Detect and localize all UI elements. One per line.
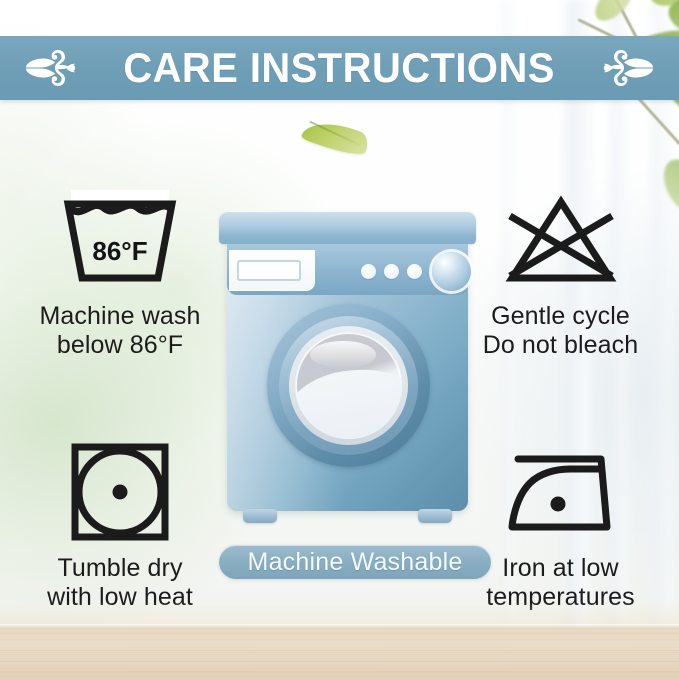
- care-symbol-machine-wash: 86°F Machine wash below 86°F: [10, 186, 230, 359]
- tumble-dry-square-circle-icon: [10, 438, 230, 546]
- machine-display-panel: [229, 250, 315, 291]
- page-title: CARE INSTRUCTIONS: [124, 47, 555, 89]
- fleur-de-lis-icon: [22, 45, 84, 91]
- machine-door[interactable]: [267, 304, 430, 467]
- wash-temperature-value: 86°F: [62, 236, 178, 267]
- care-symbol-iron-low: Iron at low temperatures: [448, 438, 673, 611]
- machine-door-inner-ring: [289, 326, 408, 445]
- machine-top-lid: [219, 211, 476, 244]
- machine-button[interactable]: [384, 264, 399, 279]
- care-symbol-tumble-dry-low: Tumble dry with low heat: [10, 438, 230, 611]
- machine-foot: [243, 509, 277, 523]
- wooden-table-surface: [0, 624, 679, 679]
- care-symbol-caption: Machine wash below 86°F: [10, 302, 230, 359]
- machine-foot: [418, 509, 452, 523]
- fleur-de-lis-icon: [595, 45, 657, 91]
- care-instructions-card: CARE INSTRUCTIONS: [0, 0, 679, 679]
- table-shadow-fade: [0, 602, 679, 624]
- header-banner: CARE INSTRUCTIONS: [0, 36, 679, 100]
- machine-door-ring: [279, 316, 418, 455]
- badge-label: Machine Washable: [248, 550, 463, 575]
- triangle-crossed-out-icon: [448, 186, 673, 294]
- washing-machine-illustration: [219, 211, 476, 525]
- wash-tub-icon: 86°F: [10, 186, 230, 294]
- machine-button[interactable]: [407, 264, 422, 279]
- care-symbol-gentle-cycle-no-bleach: Gentle cycle Do not bleach: [448, 186, 673, 359]
- machine-door-glass: [295, 332, 402, 439]
- wood-grain-texture: [0, 624, 679, 679]
- machine-button[interactable]: [361, 264, 376, 279]
- iron-icon: [448, 438, 673, 546]
- machine-dial-knob[interactable]: [432, 252, 471, 291]
- care-symbol-caption: Gentle cycle Do not bleach: [448, 302, 673, 359]
- machine-washable-badge: Machine Washable: [219, 545, 491, 579]
